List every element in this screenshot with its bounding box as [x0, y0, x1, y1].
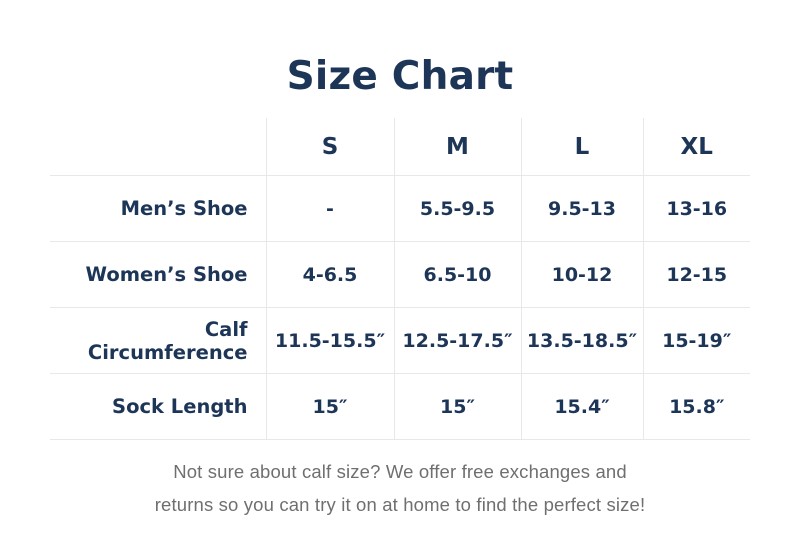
row-label-womens-shoe: Women’s Shoe	[50, 242, 266, 308]
table-row: Women’s Shoe 4-6.5 6.5-10 10-12 12-15	[50, 242, 750, 308]
cell-womens-shoe-m: 6.5-10	[394, 242, 521, 308]
size-chart-table: S M L XL Men’s Shoe - 5.5-9.5 9.5-13 13-…	[50, 118, 750, 440]
cell-calf-circumference-l: 13.5-18.5″	[521, 308, 643, 374]
table-header-row: S M L XL	[50, 118, 750, 176]
footnote-line-1: Not sure about calf size? We offer free …	[0, 455, 800, 488]
cell-mens-shoe-m: 5.5-9.5	[394, 176, 521, 242]
row-label-mens-shoe: Men’s Shoe	[50, 176, 266, 242]
cell-calf-circumference-s: 11.5-15.5″	[266, 308, 394, 374]
cell-sock-length-l: 15.4″	[521, 374, 643, 440]
table-row: Men’s Shoe - 5.5-9.5 9.5-13 13-16	[50, 176, 750, 242]
cell-mens-shoe-l: 9.5-13	[521, 176, 643, 242]
column-header-label	[50, 118, 266, 176]
cell-womens-shoe-s: 4-6.5	[266, 242, 394, 308]
cell-womens-shoe-xl: 12-15	[643, 242, 750, 308]
column-header-xl: XL	[643, 118, 750, 176]
footnote: Not sure about calf size? We offer free …	[0, 455, 800, 521]
cell-mens-shoe-xl: 13-16	[643, 176, 750, 242]
table-row: Calf Circumference 11.5-15.5″ 12.5-17.5″…	[50, 308, 750, 374]
column-header-s: S	[266, 118, 394, 176]
size-chart-page: Size Chart S M L XL Men	[0, 0, 800, 555]
table-row: Sock Length 15″ 15″ 15.4″ 15.8″	[50, 374, 750, 440]
cell-calf-circumference-m: 12.5-17.5″	[394, 308, 521, 374]
cell-calf-circumference-xl: 15-19″	[643, 308, 750, 374]
size-chart-table-container: S M L XL Men’s Shoe - 5.5-9.5 9.5-13 13-…	[50, 118, 750, 440]
column-header-l: L	[521, 118, 643, 176]
cell-sock-length-m: 15″	[394, 374, 521, 440]
cell-womens-shoe-l: 10-12	[521, 242, 643, 308]
column-header-m: M	[394, 118, 521, 176]
page-title: Size Chart	[0, 54, 800, 99]
cell-sock-length-s: 15″	[266, 374, 394, 440]
row-label-sock-length: Sock Length	[50, 374, 266, 440]
cell-sock-length-xl: 15.8″	[643, 374, 750, 440]
row-label-calf-circumference: Calf Circumference	[50, 308, 266, 374]
footnote-line-2: returns so you can try it on at home to …	[0, 488, 800, 521]
cell-mens-shoe-s: -	[266, 176, 394, 242]
